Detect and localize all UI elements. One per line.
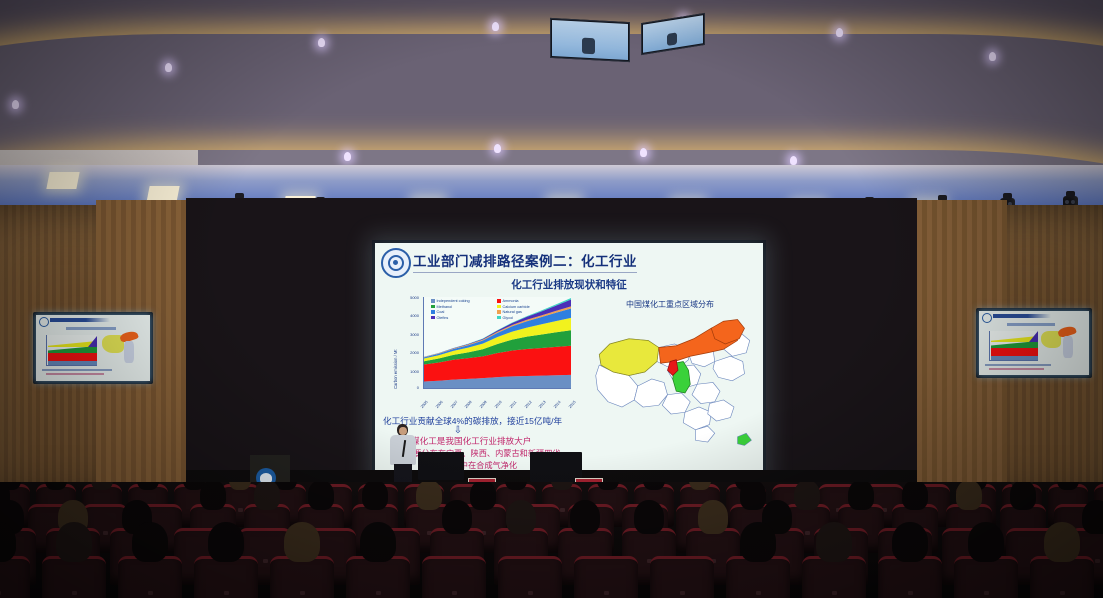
audience-member <box>416 482 442 510</box>
auditorium-seat <box>498 556 562 598</box>
audience-member <box>56 522 92 562</box>
y-tick: 0 <box>403 385 419 390</box>
auditorium-seat <box>346 556 410 598</box>
legend-swatch-icon <box>497 299 501 303</box>
audience-member <box>1044 522 1080 562</box>
emission-area-chart: Carbon emission / Mt 5000 4000 3000 2000… <box>397 293 573 411</box>
audience-member <box>362 482 388 510</box>
legend-item: Independent coking <box>431 299 497 303</box>
ceiling-downlight <box>12 100 19 109</box>
x-tick: 2006 <box>435 400 444 409</box>
audience-member <box>698 500 728 534</box>
audience-member <box>308 482 334 510</box>
x-tick: 2009 <box>479 400 488 409</box>
ceiling-downlight <box>318 38 325 47</box>
y-tick: 2000 <box>403 350 419 355</box>
slide-subtitle: 化工行业排放现状和特征 <box>375 277 763 292</box>
legend-item: Calcium carbide <box>497 305 563 309</box>
flank-monitor-right <box>976 308 1092 378</box>
legend-swatch-icon <box>497 310 501 314</box>
audience-member <box>902 482 928 510</box>
x-tick: 2010 <box>494 400 503 409</box>
legend-label: Glycol <box>503 316 514 320</box>
x-tick: 2014 <box>553 400 562 409</box>
audience-member <box>892 522 928 562</box>
audience-member <box>254 482 280 510</box>
audience-seating <box>0 482 1103 598</box>
x-tick: 2007 <box>450 400 459 409</box>
ceiling-downlight <box>640 148 647 157</box>
audience-member <box>284 522 320 562</box>
chart-x-axis: 2005200620072008200920102011201220132014… <box>423 389 571 409</box>
audience-member <box>956 482 982 510</box>
presenter-face <box>399 427 407 435</box>
audience-member <box>360 522 396 562</box>
hanging-monitor-left <box>550 18 630 62</box>
x-tick: 2008 <box>464 400 473 409</box>
chart-legend: Independent cokingAmmoniaMethanolCalcium… <box>431 299 563 321</box>
lecture-hall-photo: 工业部门减排路径案例二：化工行业 化工行业排放现状和特征 Carbon emis… <box>0 0 1103 598</box>
audience-member <box>442 500 472 534</box>
legend-label: Coal <box>437 310 445 314</box>
audience-member <box>740 482 766 510</box>
audience-member <box>506 500 536 534</box>
x-tick: 2005 <box>420 400 429 409</box>
auditorium-seat <box>574 556 638 598</box>
audience-member <box>200 482 226 510</box>
audience-member <box>470 482 496 510</box>
ceiling-downlight <box>790 156 797 165</box>
auditorium-seat <box>194 556 258 598</box>
audience-member <box>634 500 664 534</box>
slide-title: 工业部门减排路径案例二：化工行业 <box>413 250 637 273</box>
legend-item: Natural gas <box>497 310 563 314</box>
flank-monitor-left <box>33 312 153 384</box>
legend-item: Glycol <box>497 316 563 320</box>
x-tick: 2013 <box>538 400 547 409</box>
y-tick: 5000 <box>403 295 419 300</box>
legend-label: Calcium carbide <box>503 305 530 309</box>
ceiling-downlight <box>494 144 501 153</box>
legend-swatch-icon <box>431 305 435 309</box>
legend-label: Olefins <box>437 316 449 320</box>
legend-item: Ammonia <box>497 299 563 303</box>
audience-member <box>132 522 168 562</box>
ceiling-downlight <box>492 22 499 31</box>
legend-swatch-icon <box>431 316 435 320</box>
y-tick: 4000 <box>403 313 419 318</box>
legend-item: Coal <box>431 310 497 314</box>
legend-swatch-icon <box>431 310 435 314</box>
auditorium-seat <box>118 556 182 598</box>
flank-monitor-right-screen <box>979 311 1089 375</box>
auditorium-seat <box>726 556 790 598</box>
auditorium-seat <box>1030 556 1094 598</box>
legend-item: Methanol <box>431 305 497 309</box>
chart-y-axis-label: Carbon emission / Mt <box>393 349 398 389</box>
map-island-inset <box>738 433 752 445</box>
auditorium-seat <box>42 556 106 598</box>
auditorium-seat <box>802 556 866 598</box>
legend-label: Ammonia <box>503 299 519 303</box>
auditorium-seat <box>954 556 1018 598</box>
wall-panel-light <box>46 172 79 189</box>
audience-member <box>1010 482 1036 510</box>
audience-member <box>968 522 1004 562</box>
ceiling-downlight <box>165 63 172 72</box>
y-tick: 3000 <box>403 332 419 337</box>
x-tick: 2015 <box>568 400 577 409</box>
y-tick: 1000 <box>403 369 419 374</box>
auditorium-seat <box>0 556 30 598</box>
audience-member <box>740 522 776 562</box>
flank-monitor-left-screen <box>36 315 150 381</box>
ceiling <box>0 0 1103 172</box>
legend-label: Natural gas <box>503 310 522 314</box>
legend-swatch-icon <box>497 305 501 309</box>
legend-label: Methanol <box>437 305 453 309</box>
auditorium-seat <box>270 556 334 598</box>
legend-label: Independent coking <box>437 299 470 303</box>
ceiling-downlight <box>836 28 843 37</box>
ceiling-downlight <box>989 52 996 61</box>
audience-member <box>816 522 852 562</box>
laptop-left <box>418 452 464 480</box>
x-tick: 2011 <box>509 400 517 409</box>
institute-emblem-icon <box>381 248 411 278</box>
ceiling-downlight <box>344 152 351 161</box>
presenter <box>390 424 416 486</box>
legend-item: Olefins <box>431 316 497 320</box>
audience-member <box>208 522 244 562</box>
auditorium-seat <box>878 556 942 598</box>
legend-swatch-icon <box>431 299 435 303</box>
slide-body-line-2: 煤化工是我国化工行业排放大户 <box>411 435 633 447</box>
audience-member <box>1082 500 1103 534</box>
auditorium-seat <box>422 556 486 598</box>
audience-member <box>848 482 874 510</box>
x-tick: 2012 <box>524 400 533 409</box>
legend-swatch-icon <box>497 316 501 320</box>
audience-member <box>570 500 600 534</box>
slide-body-line-1: 化工行业贡献全球4%的碳排放，接近15亿吨/年 <box>383 415 633 427</box>
audience-member <box>794 482 820 510</box>
auditorium-seat <box>650 556 714 598</box>
